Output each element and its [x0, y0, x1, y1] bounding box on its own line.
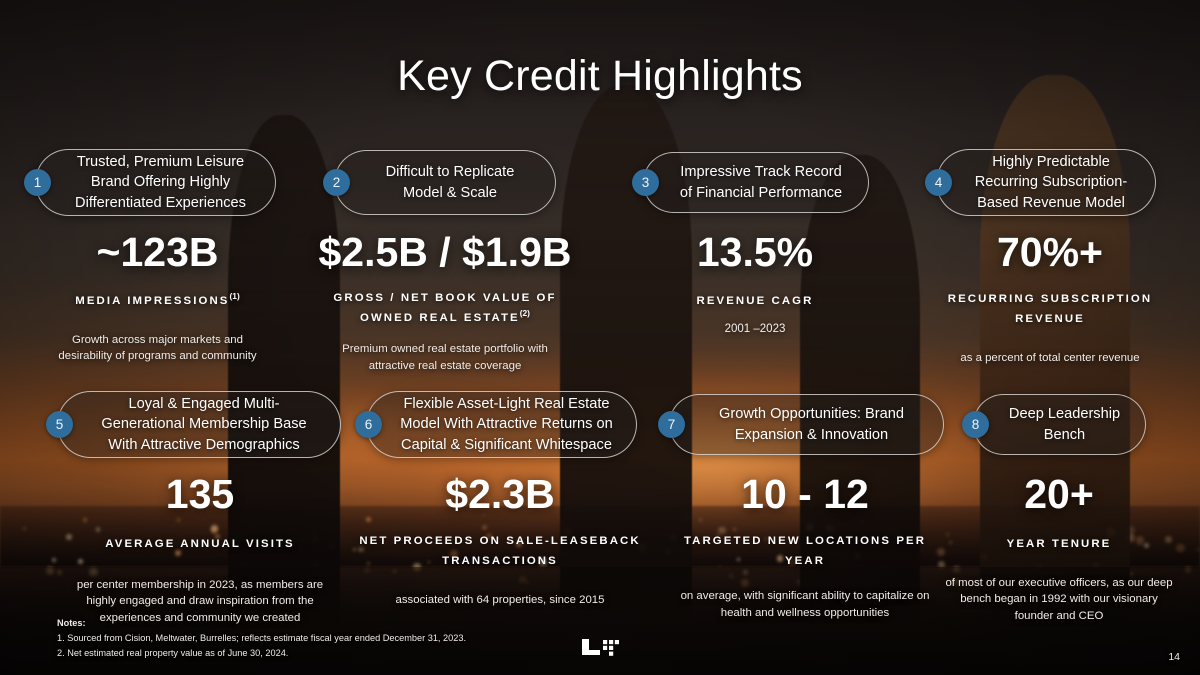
metric-label-4: RECURRING SUBSCRIPTION REVENUE: [910, 291, 1190, 328]
metric-1: ~123B MEDIA IMPRESSIONS(1) Growth across…: [20, 232, 295, 365]
metric-description-2: Premium owned real estate portfolio with…: [305, 341, 585, 374]
highlight-headline-1: Trusted, Premium Leisure Brand Offering …: [66, 152, 255, 212]
metric-value-6: $2.3B: [355, 474, 645, 515]
metric-6: $2.3B NET PROCEEDS ON SALE-LEASEBACK TRA…: [355, 474, 645, 609]
metric-description-8: of most of our executive officers, as ou…: [930, 575, 1188, 625]
metric-7: 10 - 12 TARGETED NEW LOCATIONS PER YEAR …: [660, 474, 950, 621]
metric-label-sup-2: (2): [520, 308, 530, 318]
metric-8: 20+ YEAR TENURE of most of our executive…: [930, 474, 1188, 625]
metric-5: 135 AVERAGE ANNUAL VISITS per center mem…: [50, 474, 350, 627]
metric-label-text-1: MEDIA IMPRESSIONS: [75, 295, 229, 307]
badge-7: 7: [658, 411, 685, 438]
metric-3: 13.5% REVENUE CAGR 2001 –2023: [620, 232, 890, 335]
metric-description-4: as a percent of total center revenue: [910, 350, 1190, 367]
life-time-logo: [580, 637, 620, 657]
highlight-pill-5[interactable]: Loyal & Engaged Multi-Generational Membe…: [57, 391, 341, 458]
highlight-pill-4[interactable]: Highly Predictable Recurring Subscriptio…: [936, 149, 1156, 216]
metric-label-text-5: AVERAGE ANNUAL VISITS: [105, 538, 294, 550]
badge-4: 4: [925, 169, 952, 196]
badge-8: 8: [962, 411, 989, 438]
metric-label-8: YEAR TENURE: [930, 533, 1188, 553]
badge-2: 2: [323, 169, 350, 196]
notes-heading: Notes:: [57, 616, 466, 631]
metric-label-sup-1: (1): [230, 291, 240, 301]
metric-value-3: 13.5%: [620, 232, 890, 273]
highlight-headline-2: Difficult to Replicate Model & Scale: [365, 162, 535, 202]
page-title: Key Credit Highlights: [0, 52, 1200, 101]
metric-label-text-6: NET PROCEEDS ON SALE-LEASEBACK TRANSACTI…: [359, 535, 640, 567]
highlight-headline-8: Deep Leadership Bench: [1004, 404, 1125, 444]
metric-value-4: 70%+: [910, 232, 1190, 273]
metric-value-8: 20+: [930, 474, 1188, 515]
metric-label-text-3: REVENUE CAGR: [697, 295, 814, 307]
metric-description-6: associated with 64 properties, since 201…: [355, 592, 645, 609]
page-number: 14: [1168, 651, 1180, 663]
metric-label-2: GROSS / NET BOOK VALUE OF OWNED REAL EST…: [305, 290, 585, 327]
slide: Key Credit Highlights 1 Trusted, Premium…: [0, 0, 1200, 675]
highlight-pill-1[interactable]: Trusted, Premium Leisure Brand Offering …: [35, 149, 276, 216]
badge-3: 3: [632, 169, 659, 196]
metric-label-7: TARGETED NEW LOCATIONS PER YEAR: [660, 533, 950, 570]
notes-list: 1. Sourced from Cision, Meltwater, Burre…: [57, 631, 466, 661]
metric-2: $2.5B / $1.9B GROSS / NET BOOK VALUE OF …: [305, 232, 585, 374]
metric-4: 70%+ RECURRING SUBSCRIPTION REVENUE as a…: [910, 232, 1190, 367]
highlight-headline-6: Flexible Asset-Light Real Estate Model W…: [397, 394, 616, 454]
metric-label-5: AVERAGE ANNUAL VISITS: [50, 533, 350, 553]
metric-label-3: REVENUE CAGR: [620, 290, 890, 310]
metric-label-6: NET PROCEEDS ON SALE-LEASEBACK TRANSACTI…: [355, 533, 645, 570]
metric-description-7: on average, with significant ability to …: [660, 588, 950, 621]
highlight-pill-7[interactable]: Growth Opportunities: Brand Expansion & …: [669, 394, 944, 455]
highlight-pill-3[interactable]: Impressive Track Record of Financial Per…: [643, 152, 869, 213]
badge-1: 1: [24, 169, 51, 196]
metric-year-range-3: 2001 –2023: [620, 323, 890, 335]
metric-value-7: 10 - 12: [660, 474, 950, 515]
badge-5: 5: [46, 411, 73, 438]
note-item: 1. Sourced from Cision, Meltwater, Burre…: [57, 631, 466, 646]
badge-6: 6: [355, 411, 382, 438]
highlight-headline-5: Loyal & Engaged Multi-Generational Membe…: [88, 394, 320, 454]
highlight-headline-4: Highly Predictable Recurring Subscriptio…: [967, 152, 1135, 212]
highlight-pill-2[interactable]: Difficult to Replicate Model & Scale: [334, 150, 556, 215]
metric-value-1: ~123B: [20, 232, 295, 273]
metric-description-1: Growth across major markets and desirabi…: [20, 332, 295, 365]
highlight-pill-6[interactable]: Flexible Asset-Light Real Estate Model W…: [366, 391, 637, 458]
highlight-headline-7: Growth Opportunities: Brand Expansion & …: [700, 404, 923, 444]
metric-label-text-8: YEAR TENURE: [1007, 538, 1112, 550]
metric-value-2: $2.5B / $1.9B: [305, 232, 585, 273]
metric-label-text-7: TARGETED NEW LOCATIONS PER YEAR: [684, 535, 926, 567]
metric-value-5: 135: [50, 474, 350, 515]
highlight-headline-3: Impressive Track Record of Financial Per…: [674, 162, 848, 202]
highlight-pill-8[interactable]: Deep Leadership Bench: [973, 394, 1146, 455]
metric-label-1: MEDIA IMPRESSIONS(1): [20, 290, 295, 310]
metric-label-text-4: RECURRING SUBSCRIPTION REVENUE: [948, 293, 1152, 325]
notes-block: Notes: 1. Sourced from Cision, Meltwater…: [57, 616, 466, 661]
note-item: 2. Net estimated real property value as …: [57, 646, 466, 661]
